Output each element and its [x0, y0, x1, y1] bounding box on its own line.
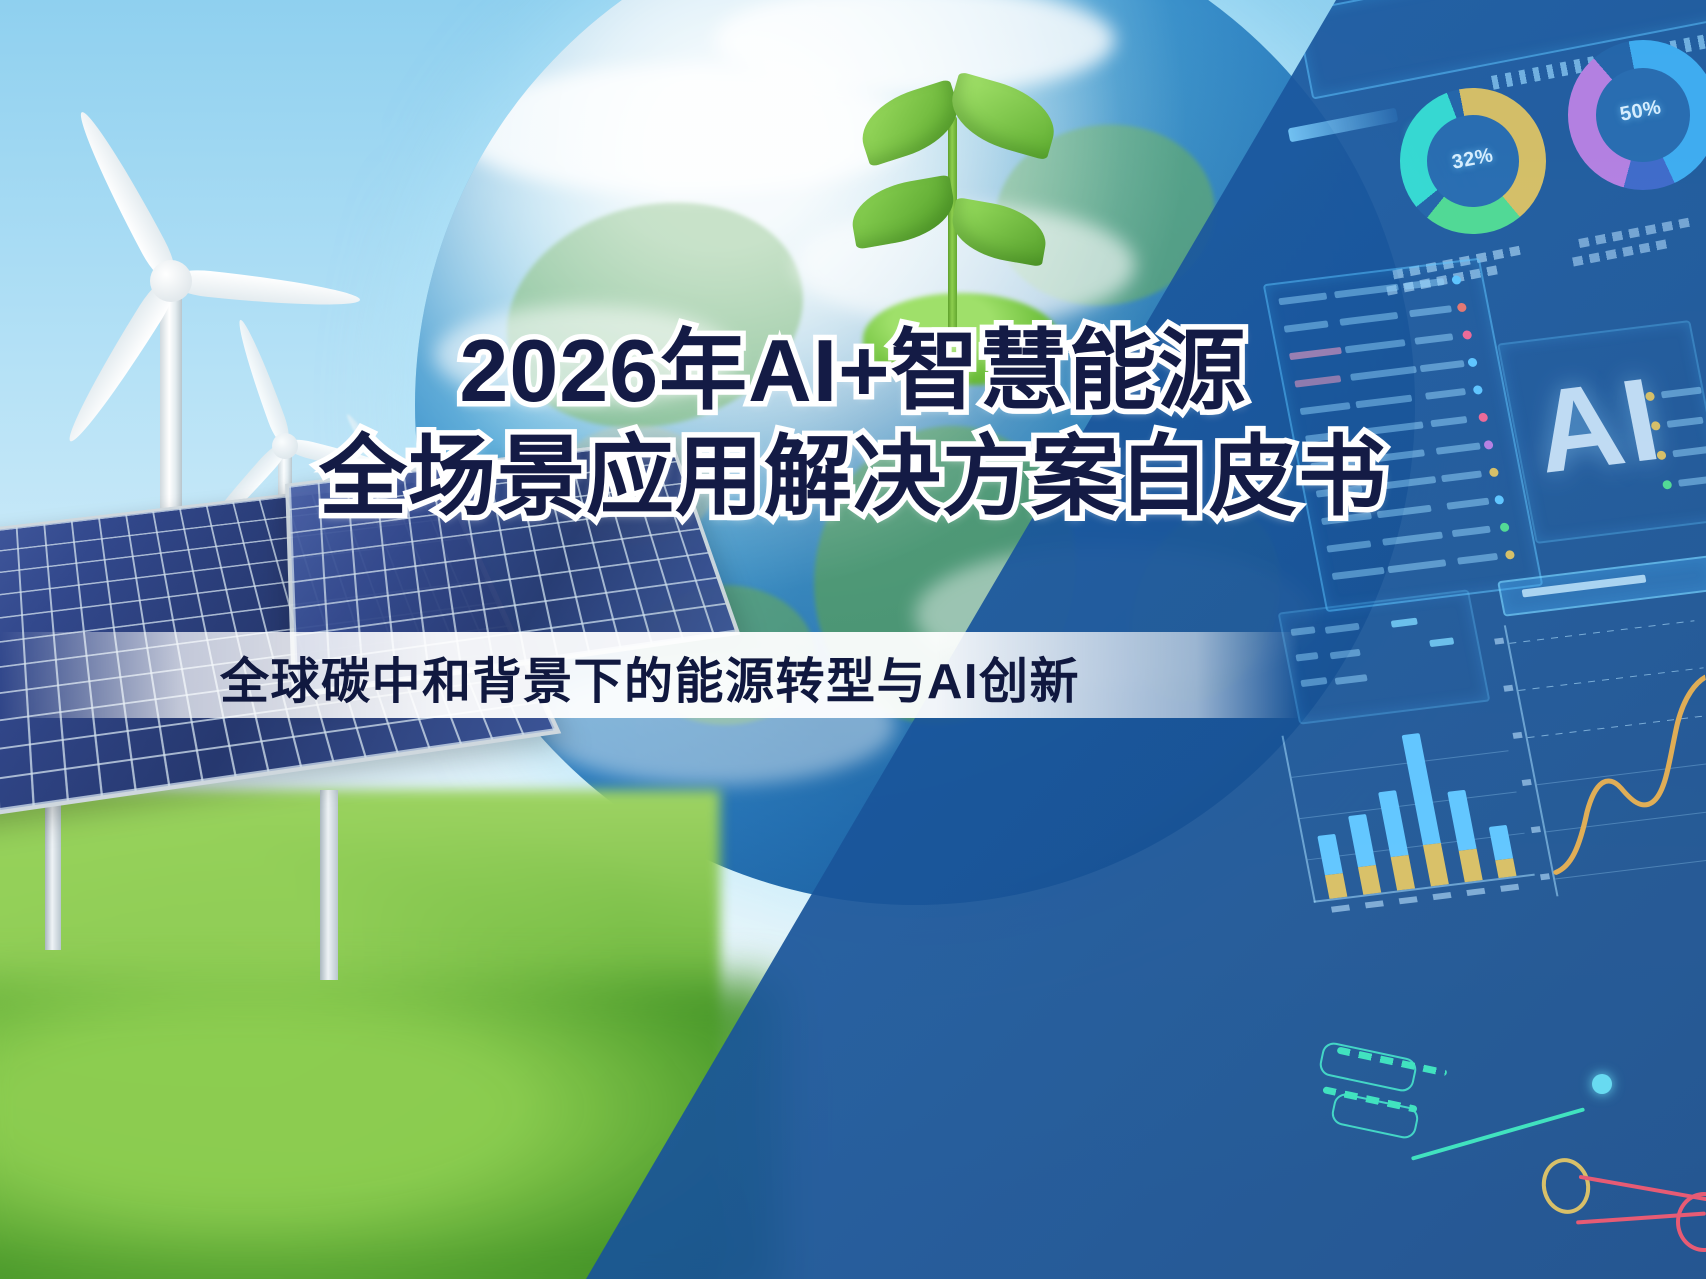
bar-chart-y-axis: [1281, 736, 1315, 903]
bar-x-tick: [1466, 888, 1485, 896]
bar-x-tick: [1432, 892, 1451, 900]
bar-cyan: [1378, 790, 1409, 857]
table-row: [1457, 553, 1498, 565]
bar-gold: [1391, 855, 1415, 891]
node-dot-cyan: [1592, 1074, 1612, 1094]
metric-label: [1330, 649, 1361, 660]
bar-gold: [1459, 849, 1483, 883]
table-row: [1382, 532, 1443, 546]
table-row: [1334, 284, 1399, 299]
sprout-leaf-top-right: [943, 71, 1064, 160]
solar-panel-array: [0, 440, 650, 1060]
hud-progress-bar: [1288, 108, 1399, 143]
table-row: [1409, 305, 1452, 317]
bar-gridline: [1292, 750, 1509, 778]
table-row: [1387, 559, 1446, 573]
bar-cyan: [1489, 825, 1513, 861]
sprout-leaf-mid-right: [947, 197, 1051, 267]
table-row: [1278, 292, 1327, 305]
metric-label: [1325, 623, 1360, 634]
table-status-dot: [1505, 550, 1516, 560]
bar-x-tick: [1500, 884, 1519, 892]
page-title: 2026年AI+智慧能源 全场景应用解决方案白皮书: [0, 318, 1706, 529]
title-line-1: 2026年AI+智慧能源: [0, 318, 1706, 424]
node-ring-red: [1676, 1192, 1706, 1252]
bar-x-tick: [1399, 896, 1418, 904]
title-line-2: 全场景应用解决方案白皮书: [0, 424, 1706, 530]
node-ring-gold: [1537, 1154, 1596, 1219]
table-status-dot: [1451, 275, 1462, 285]
bar-chart: [1281, 708, 1548, 932]
bar-cyan: [1317, 834, 1343, 875]
cover-banner: 32% 50%: [0, 0, 1706, 1279]
table-row: [1326, 540, 1371, 552]
bar-x-tick: [1331, 904, 1350, 912]
sprout-leaf-mid-left: [847, 174, 959, 249]
bar-gold: [1495, 858, 1516, 878]
bar-gold: [1325, 873, 1347, 899]
donut-caption-3: [1578, 217, 1694, 248]
metric-value: [1429, 637, 1454, 647]
metric-label: [1300, 677, 1327, 687]
bar-cyan: [1348, 814, 1376, 867]
bar-x-tick: [1365, 900, 1384, 908]
bar-gridline: [1300, 791, 1517, 819]
table-status-dot: [1457, 302, 1468, 312]
metric-label: [1335, 674, 1368, 685]
green-sprout-seedling: [845, 55, 1065, 355]
node-link-line: [1411, 1107, 1585, 1160]
table-row: [1404, 278, 1445, 290]
subtitle-text: 全球碳中和背景下的能源转型与AI创新: [0, 640, 1300, 714]
table-row: [1332, 567, 1385, 580]
bar-cyan: [1402, 733, 1441, 845]
bar-gold: [1423, 843, 1449, 886]
metric-value: [1391, 618, 1418, 628]
bar-gold: [1358, 865, 1381, 895]
